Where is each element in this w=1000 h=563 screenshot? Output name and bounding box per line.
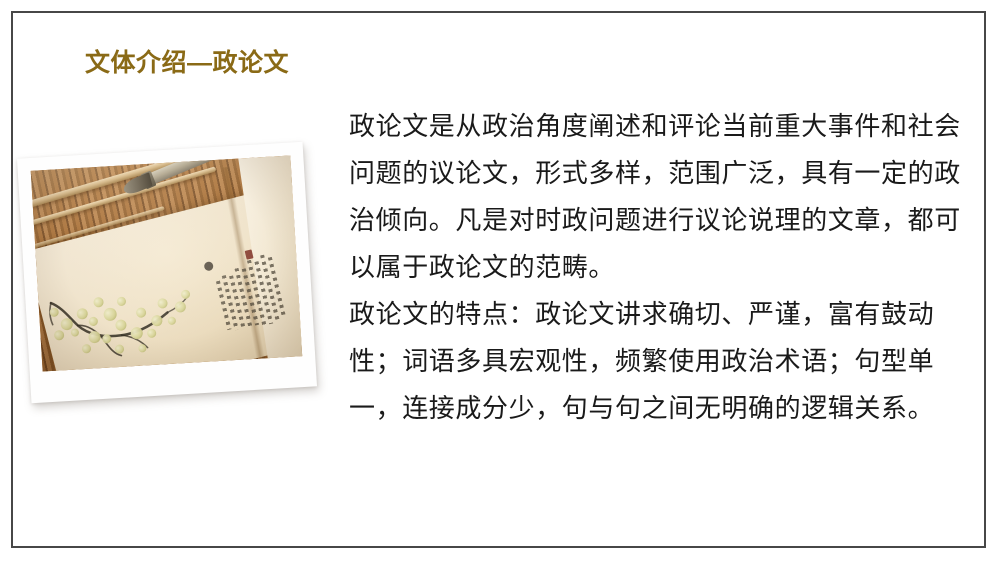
body-line: 政论文的特点：政论文讲求确切、严谨，富有鼓动 xyxy=(349,291,939,338)
presentation-slide: 文体介绍—政论文 xyxy=(0,0,1000,563)
book-photo-image xyxy=(31,155,302,371)
photo-frame-container xyxy=(17,142,317,404)
polaroid-frame xyxy=(17,142,317,404)
body-line: 性；词语多具宏观性，频繁使用政治术语；句型单 xyxy=(349,338,939,385)
seal-mark-icon xyxy=(245,250,254,260)
body-line: 政论文是从政治角度阐述和评论当前重大事件和社会 xyxy=(349,103,939,150)
body-line: 以属于政论文的范畴。 xyxy=(349,244,939,291)
body-text-block: 政论文是从政治角度阐述和评论当前重大事件和社会 问题的议论文，形式多样，范围广泛… xyxy=(349,103,939,432)
page-title: 文体介绍—政论文 xyxy=(85,47,289,79)
seal-dot-icon xyxy=(204,261,215,272)
body-line: 一，连接成分少，句与句之间无明确的逻辑关系。 xyxy=(349,385,939,432)
body-line: 问题的议论文，形式多样，范围广泛，具有一定的政 xyxy=(349,150,939,197)
body-line: 治倾向。凡是对时政问题进行议论说理的文章，都可 xyxy=(349,197,939,244)
